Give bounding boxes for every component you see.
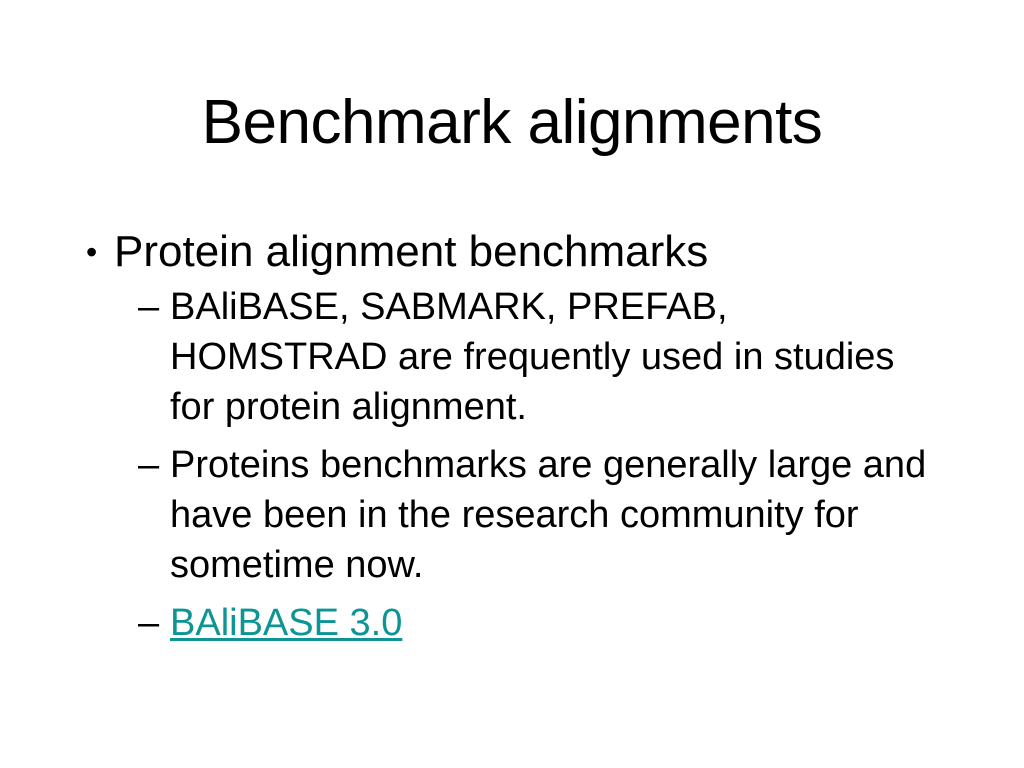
sub-bullet-item-link: – BAliBASE 3.0 (76, 598, 976, 648)
bullet-dash-icon: – (76, 282, 170, 332)
bullet-dash-icon: – (76, 598, 170, 648)
balibase-3-link[interactable]: BAliBASE 3.0 (170, 602, 402, 644)
bullet-dash-icon: – (76, 440, 170, 490)
sub-bullet-link-wrapper: BAliBASE 3.0 (170, 598, 936, 648)
slide-body: • Protein alignment benchmarks – BAliBAS… (76, 226, 976, 648)
sub-bullet-list: – BAliBASE, SABMARK, PREFAB, HOMSTRAD ar… (76, 282, 976, 648)
bullet-level1-label: Protein alignment benchmarks (114, 226, 976, 278)
sub-bullet-label: BAliBASE, SABMARK, PREFAB, HOMSTRAD are … (170, 282, 936, 432)
sub-bullet-label: Proteins benchmarks are generally large … (170, 440, 936, 590)
sub-bullet-item: – BAliBASE, SABMARK, PREFAB, HOMSTRAD ar… (76, 282, 976, 432)
bullet-dot-icon: • (76, 226, 114, 278)
slide: Benchmark alignments • Protein alignment… (0, 0, 1024, 768)
bullet-level1: • Protein alignment benchmarks (76, 226, 976, 278)
sub-bullet-item: – Proteins benchmarks are generally larg… (76, 440, 976, 590)
page-title: Benchmark alignments (0, 86, 1024, 160)
